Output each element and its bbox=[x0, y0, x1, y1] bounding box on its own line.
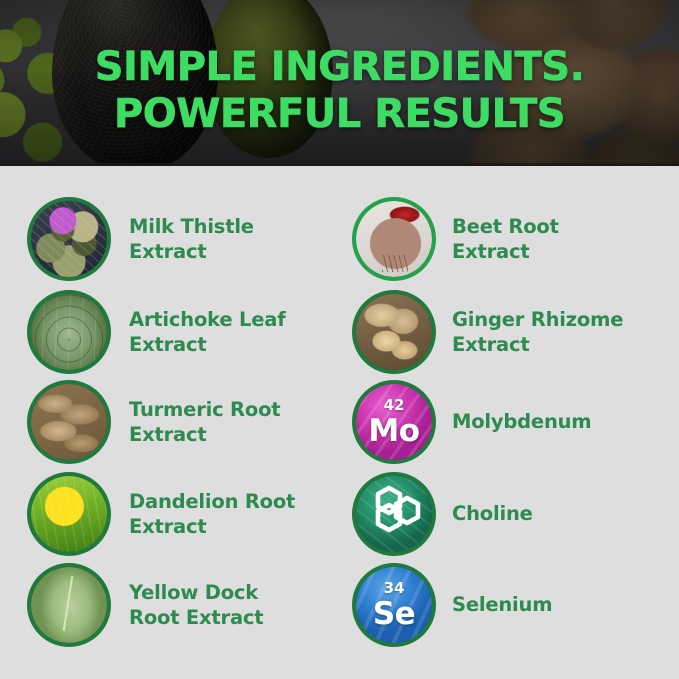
page-title: SIMPLE INGREDIENTS. POWERFUL RESULTS bbox=[0, 44, 679, 138]
element-symbol: Se bbox=[356, 597, 432, 631]
ingredient-label: Beet Root Extract bbox=[452, 214, 559, 264]
turmeric-badge bbox=[27, 380, 111, 464]
label-line: Extract bbox=[452, 239, 559, 264]
ingredient-item-ginger-rhizome[interactable]: Ginger Rhizome Extract bbox=[339, 285, 679, 378]
ingredients-column-left: Milk Thistle Extract Artichoke Leaf Extr… bbox=[0, 166, 340, 679]
ingredient-item-artichoke[interactable]: Artichoke Leaf Extract bbox=[0, 285, 367, 378]
label-line: Extract bbox=[129, 422, 280, 447]
atomic-number: 42 bbox=[356, 398, 432, 413]
ingredient-label: Yellow Dock Root Extract bbox=[129, 580, 263, 630]
ingredient-label: Molybdenum bbox=[452, 409, 591, 434]
label-line: Ginger Rhizome bbox=[452, 307, 623, 332]
label-line: Extract bbox=[452, 332, 623, 357]
label-line: Artichoke Leaf bbox=[129, 307, 286, 332]
ingredient-item-dandelion[interactable]: Dandelion Root Extract bbox=[0, 467, 367, 560]
ginger-rhizome-photo-icon bbox=[356, 294, 432, 370]
ginger-rhizome-badge bbox=[352, 290, 436, 374]
label-line: Milk Thistle bbox=[129, 214, 254, 239]
dandelion-badge bbox=[27, 472, 111, 556]
beet-root-badge bbox=[352, 197, 436, 281]
label-line: Turmeric Root bbox=[129, 397, 280, 422]
ingredient-item-molybdenum[interactable]: 42 Mo Molybdenum bbox=[339, 375, 679, 468]
ingredient-item-selenium[interactable]: 34 Se Selenium bbox=[339, 558, 679, 651]
turmeric-root-photo-icon bbox=[31, 384, 107, 460]
element-symbol: Mo bbox=[356, 414, 432, 448]
page-title-line1: SIMPLE INGREDIENTS. bbox=[95, 44, 585, 90]
ingredient-item-yellow-dock[interactable]: Yellow Dock Root Extract bbox=[0, 558, 367, 651]
label-line: Dandelion Root bbox=[129, 489, 295, 514]
label-line: Root Extract bbox=[129, 605, 263, 630]
ingredients-column-right: Beet Root Extract Ginger Rhizome Extract… bbox=[339, 166, 679, 679]
artichoke-badge bbox=[27, 290, 111, 374]
infographic-page: SIMPLE INGREDIENTS. POWERFUL RESULTS Mil… bbox=[0, 0, 679, 679]
ingredient-label: Choline bbox=[452, 501, 533, 526]
ingredient-label: Artichoke Leaf Extract bbox=[129, 307, 286, 357]
choline-badge bbox=[352, 472, 436, 556]
ingredient-item-beet-root[interactable]: Beet Root Extract bbox=[339, 192, 679, 285]
label-line: Beet Root bbox=[452, 214, 559, 239]
atomic-number: 34 bbox=[356, 581, 432, 596]
milk-thistle-photo-icon bbox=[31, 201, 107, 277]
dandelion-photo-icon bbox=[31, 476, 107, 552]
ingredient-label: Dandelion Root Extract bbox=[129, 489, 295, 539]
ingredient-label: Selenium bbox=[452, 592, 552, 617]
ingredient-item-choline[interactable]: Choline bbox=[339, 467, 679, 560]
ingredient-label: Ginger Rhizome Extract bbox=[452, 307, 623, 357]
ingredient-item-turmeric[interactable]: Turmeric Root Extract bbox=[0, 375, 367, 468]
molybdenum-badge: 42 Mo bbox=[352, 380, 436, 464]
label-line: Yellow Dock bbox=[129, 580, 263, 605]
page-title-line2: POWERFUL RESULTS bbox=[0, 91, 679, 138]
ingredient-item-milk-thistle[interactable]: Milk Thistle Extract bbox=[0, 192, 367, 285]
label-line: Extract bbox=[129, 332, 286, 357]
ingredient-label: Milk Thistle Extract bbox=[129, 214, 254, 264]
ingredient-label: Turmeric Root Extract bbox=[129, 397, 280, 447]
selenium-badge: 34 Se bbox=[352, 563, 436, 647]
milk-thistle-badge bbox=[27, 197, 111, 281]
yellow-dock-leaf-photo-icon bbox=[31, 567, 107, 643]
label-line: Selenium bbox=[452, 592, 552, 617]
beet-root-photo-icon bbox=[356, 201, 432, 277]
label-line: Molybdenum bbox=[452, 409, 591, 434]
yellow-dock-badge bbox=[27, 563, 111, 647]
label-line: Extract bbox=[129, 514, 295, 539]
label-line: Choline bbox=[452, 501, 533, 526]
ingredients-grid: Milk Thistle Extract Artichoke Leaf Extr… bbox=[0, 166, 679, 679]
hero-banner: SIMPLE INGREDIENTS. POWERFUL RESULTS bbox=[0, 0, 679, 166]
artichoke-photo-icon bbox=[31, 294, 107, 370]
label-line: Extract bbox=[129, 239, 254, 264]
hexagon-chain-icon bbox=[364, 484, 424, 544]
